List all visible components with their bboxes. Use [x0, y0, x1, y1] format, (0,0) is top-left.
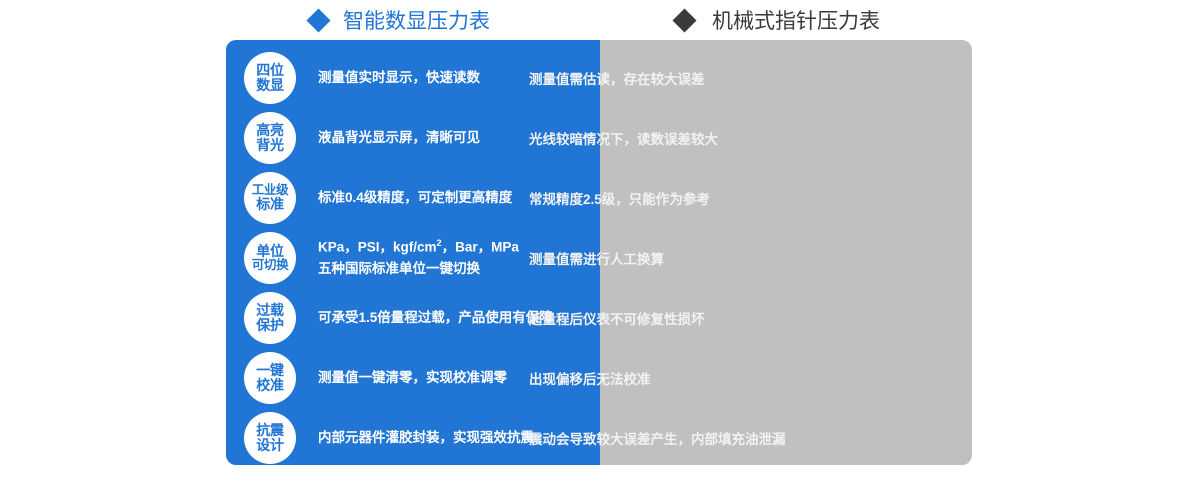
feature-badge-line-2: 保护 [256, 318, 283, 333]
column-headers: 智能数显压力表 机械式指针压力表 [0, 0, 1200, 40]
analog-feature-text: 超量程后仪表不可修复性损坏 [529, 288, 829, 348]
feature-row: 工业级标准标准0.4级精度，可定制更高精度常规精度2.5级，只能作为参考 [226, 168, 972, 228]
feature-badge-line-2: 标准 [256, 197, 283, 212]
analog-feature-text: 测量值需进行人工换算 [529, 228, 829, 288]
analog-feature-text: 出现偏移后无法校准 [529, 348, 829, 408]
feature-badge-line-1: 高亮 [256, 123, 283, 138]
feature-badge-line-2: 数显 [256, 78, 283, 93]
feature-badge-line-2: 设计 [256, 438, 283, 453]
diamond-icon [306, 8, 330, 32]
header-analog-gauge-label: 机械式指针压力表 [712, 5, 880, 35]
feature-row: 四位数显测量值实时显示，快速读数测量值需估读，存在较大误差 [226, 48, 972, 108]
feature-badge: 单位可切换 [244, 232, 296, 284]
analog-feature-text: 光线较暗情况下，读数误差较大 [529, 108, 829, 168]
feature-badge: 高亮背光 [244, 112, 296, 164]
feature-row: 单位可切换KPa，PSI，kgf/cm2，Bar，MPa五种国际标准单位一键切换… [226, 228, 972, 288]
feature-row: 抗震设计内部元器件灌胶封装，实现强效抗震震动会导致较大误差产生，内部填充油泄漏 [226, 408, 972, 468]
comparison-panels: 四位数显测量值实时显示，快速读数测量值需估读，存在较大误差高亮背光液晶背光显示屏… [226, 40, 972, 465]
header-smart-gauge-label: 智能数显压力表 [343, 5, 490, 35]
feature-badge-line-2: 背光 [256, 138, 283, 153]
header-smart-gauge: 智能数显压力表 [310, 0, 490, 40]
analog-feature-text: 震动会导致较大误差产生，内部填充油泄漏 [529, 408, 829, 468]
header-analog-gauge: 机械式指针压力表 [676, 0, 880, 40]
analog-feature-text: 测量值需估读，存在较大误差 [529, 48, 829, 108]
feature-badge: 抗震设计 [244, 412, 296, 464]
feature-badge-line-1: 抗震 [256, 423, 283, 438]
feature-badge-line-1: 四位 [256, 63, 283, 78]
feature-badge-line-2: 校准 [256, 378, 283, 393]
feature-badge-line-1: 过载 [256, 303, 283, 318]
feature-badge-line-1: 单位 [256, 244, 283, 259]
feature-badge: 过载保护 [244, 292, 296, 344]
feature-row: 过载保护可承受1.5倍量程过载，产品使用有保障超量程后仪表不可修复性损坏 [226, 288, 972, 348]
feature-badge: 一键校准 [244, 352, 296, 404]
feature-row: 一键校准测量值一键清零，实现校准调零出现偏移后无法校准 [226, 348, 972, 408]
feature-badge-line-1: 工业级 [252, 184, 289, 198]
feature-badge-line-2: 可切换 [252, 259, 289, 273]
analog-feature-text: 常规精度2.5级，只能作为参考 [529, 168, 829, 228]
feature-badge: 工业级标准 [244, 172, 296, 224]
diamond-icon [672, 8, 696, 32]
feature-badge-line-1: 一键 [256, 363, 283, 378]
feature-badge: 四位数显 [244, 52, 296, 104]
comparison-infographic: 智能数显压力表 机械式指针压力表 四位数显测量值实时显示，快速读数测量值需估读，… [0, 0, 1200, 482]
feature-row: 高亮背光液晶背光显示屏，清晰可见光线较暗情况下，读数误差较大 [226, 108, 972, 168]
